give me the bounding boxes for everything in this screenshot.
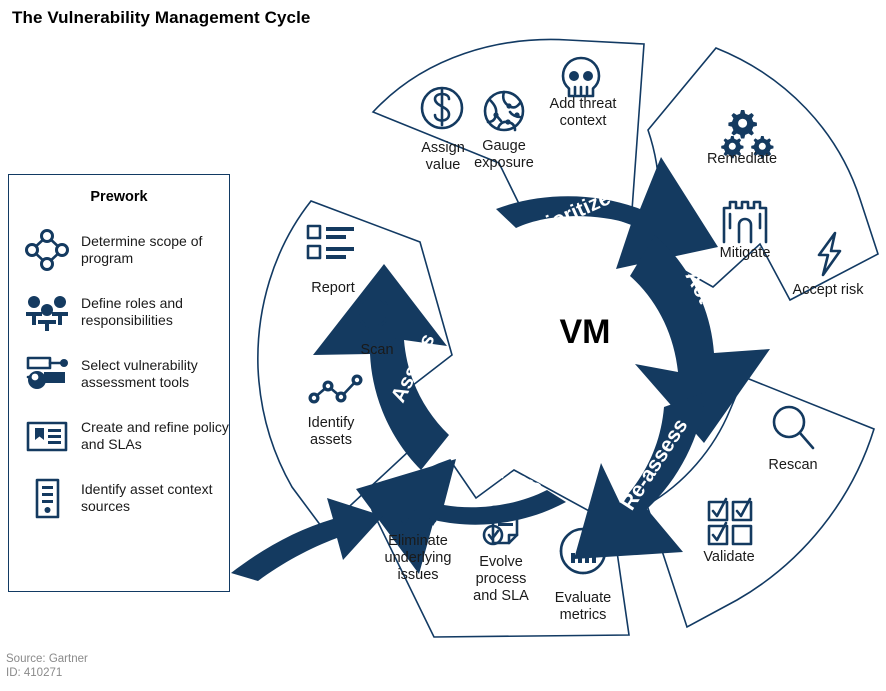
label-eliminate-2: underlying bbox=[385, 550, 452, 566]
prework-item-label: Identify asset context sources bbox=[81, 481, 229, 515]
prework-item-select-tools[interactable]: Select vulnerability assessment tools bbox=[25, 343, 229, 405]
label-add-threat-1: Add threat bbox=[550, 96, 617, 112]
label-evaluate-2: metrics bbox=[560, 607, 607, 623]
label-eliminate-1: Eliminate bbox=[388, 533, 448, 549]
policy-card-icon bbox=[25, 415, 69, 457]
label-evolve-3: and SLA bbox=[473, 588, 529, 604]
label-rescan: Rescan bbox=[768, 457, 817, 473]
server-asset-icon bbox=[25, 477, 69, 519]
prework-item-label: Select vulnerability assessment tools bbox=[81, 357, 229, 391]
label-report: Report bbox=[311, 280, 355, 296]
label-evolve-1: Evolve bbox=[479, 554, 523, 570]
source-line-1: Source: Gartner bbox=[6, 652, 88, 666]
label-assign-value-2: value bbox=[426, 157, 461, 173]
label-assign-value-1: Assign bbox=[421, 140, 465, 156]
center-label: VM bbox=[560, 313, 611, 351]
prework-title: Prework bbox=[9, 189, 229, 205]
tools-wrench-icon bbox=[25, 353, 69, 395]
source-line-2: ID: 410271 bbox=[6, 666, 88, 680]
label-gauge-exposure-2: exposure bbox=[474, 155, 534, 171]
label-add-threat-2: context bbox=[560, 113, 607, 129]
prework-item-label: Create and refine policy and SLAs bbox=[81, 419, 229, 453]
prework-item-determine-scope[interactable]: Determine scope of program bbox=[25, 219, 229, 281]
prework-item-label: Define roles and responsibilities bbox=[81, 295, 229, 329]
label-remediate: Remediate bbox=[707, 151, 777, 167]
prework-panel: Prework Determine scope of program bbox=[8, 174, 230, 592]
label-evolve-2: process bbox=[476, 571, 527, 587]
label-accept-risk: Accept risk bbox=[793, 282, 865, 298]
label-validate: Validate bbox=[703, 549, 754, 565]
label-eliminate-3: issues bbox=[397, 567, 438, 583]
label-evaluate-1: Evaluate bbox=[555, 590, 611, 606]
label-mitigate: Mitigate bbox=[720, 245, 771, 261]
scope-network-icon bbox=[25, 229, 69, 271]
source-note: Source: Gartner ID: 410271 bbox=[6, 652, 88, 680]
prework-item-identify-asset-context[interactable]: Identify asset context sources bbox=[25, 467, 229, 529]
prework-item-define-roles[interactable]: Define roles and responsibilities bbox=[25, 281, 229, 343]
label-scan: Scan bbox=[360, 342, 393, 358]
label-identify-assets-1: Identify bbox=[308, 415, 355, 431]
petal-act[interactable] bbox=[648, 48, 878, 300]
label-gauge-exposure-1: Gauge bbox=[482, 138, 526, 154]
label-identify-assets-2: assets bbox=[310, 432, 352, 448]
people-roles-icon bbox=[25, 291, 69, 333]
entry-arrow bbox=[231, 498, 383, 581]
prework-item-create-policy[interactable]: Create and refine policy and SLAs bbox=[25, 405, 229, 467]
prework-item-label: Determine scope of program bbox=[81, 233, 229, 267]
